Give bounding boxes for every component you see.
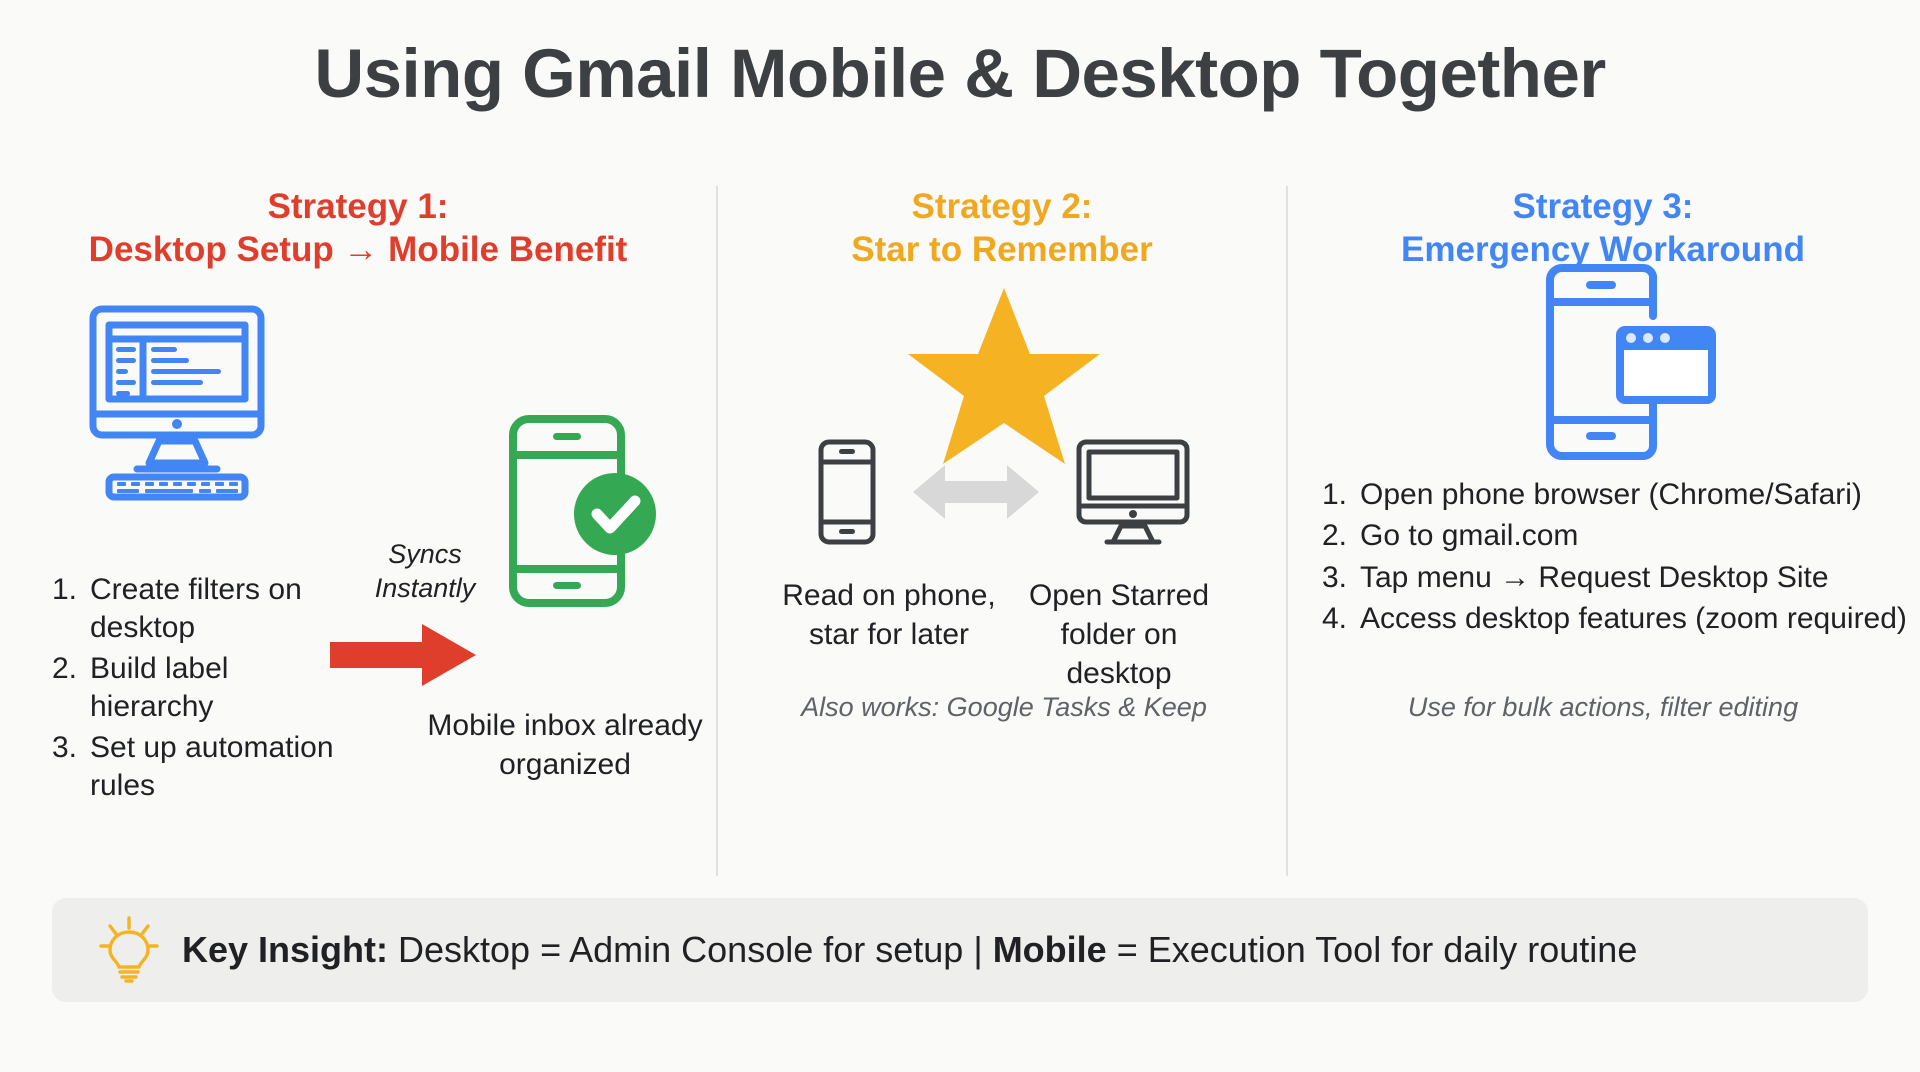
list-item: 1. Create filters on desktop (52, 571, 352, 648)
strategy-2-caption-left: Read on phone, star for later (774, 576, 1004, 693)
step-text: Tap menu → Request Desktop Site (1360, 559, 1920, 597)
strategy-2-heading-line1: Strategy 2: (718, 186, 1286, 229)
step-number: 1. (1322, 476, 1360, 514)
phone-browser-icon (1538, 264, 1724, 465)
strategy-columns: Strategy 1: Desktop Setup → Mobile Benef… (0, 186, 1920, 876)
key-insight-bold-mobile: Mobile (993, 929, 1107, 970)
infographic-slide: Using Gmail Mobile & Desktop Together St… (0, 0, 1920, 1072)
step-text: Set up automation rules (90, 729, 352, 806)
strategy-2-note: Also works: Google Tasks & Keep (718, 692, 1290, 723)
strategy-1-heading: Strategy 1: Desktop Setup → Mobile Benef… (0, 186, 716, 271)
step-number: 1. (52, 571, 90, 648)
step-number: 3. (1322, 559, 1360, 597)
strategy-2-column: Strategy 2: Star to Remember (716, 186, 1288, 876)
strategy-1-caption: Mobile inbox already organized (420, 706, 710, 784)
list-item: 1. Open phone browser (Chrome/Safari) (1322, 476, 1920, 514)
desktop-monitor-icon (1075, 438, 1191, 551)
page-title: Using Gmail Mobile & Desktop Together (0, 34, 1920, 113)
strategy-1-heading-line1: Strategy 1: (0, 186, 716, 229)
strategy-3-heading-line1: Strategy 3: (1288, 186, 1918, 229)
list-item: 3. Tap menu → Request Desktop Site (1322, 559, 1920, 597)
strategy-3-note: Use for bulk actions, filter editing (1288, 692, 1918, 723)
syncs-instantly-label: Syncs Instantly (355, 538, 495, 606)
strategy-1-heading-line2: Desktop Setup → Mobile Benefit (0, 229, 716, 272)
strategy-1-steps: 1. Create filters on desktop 2. Build la… (52, 571, 352, 807)
step-text: Create filters on desktop (90, 571, 352, 648)
strategy-3-steps: 1. Open phone browser (Chrome/Safari) 2.… (1322, 476, 1920, 642)
step-number: 2. (1322, 517, 1360, 555)
list-item: 2. Go to gmail.com (1322, 517, 1920, 555)
step-text: Access desktop features (zoom required) (1360, 600, 1920, 638)
phone-icon (817, 438, 877, 551)
list-item: 2. Build label hierarchy (52, 650, 352, 727)
strategy-2-heading: Strategy 2: Star to Remember (718, 186, 1286, 271)
step-text: Open phone browser (Chrome/Safari) (1360, 476, 1920, 514)
double-arrow-icon (913, 461, 1039, 528)
key-insight-label: Key Insight: (182, 929, 388, 970)
phone-check-icon (505, 411, 657, 616)
strategy-2-heading-line2: Star to Remember (718, 229, 1286, 272)
step-text: Go to gmail.com (1360, 517, 1920, 555)
phone-desktop-sync-row (718, 438, 1290, 551)
step-number: 2. (52, 650, 90, 727)
strategy-3-heading: Strategy 3: Emergency Workaround (1288, 186, 1918, 271)
key-insight-bar: Key Insight: Desktop = Admin Console for… (52, 898, 1868, 1002)
strategy-2-captions: Read on phone, star for later Open Starr… (718, 576, 1290, 693)
step-text: Build label hierarchy (90, 650, 352, 727)
desktop-monitor-icon (85, 301, 275, 506)
list-item: 4. Access desktop features (zoom require… (1322, 600, 1920, 638)
key-insight-part1: Desktop = Admin Console for setup | (388, 929, 993, 970)
step-number: 4. (1322, 600, 1360, 638)
list-item: 3. Set up automation rules (52, 729, 352, 806)
strategy-3-column: Strategy 3: Emergency Workaround (1288, 186, 1918, 876)
strategy-2-caption-right: Open Starred folder on desktop (1004, 576, 1234, 693)
step-number: 3. (52, 729, 90, 806)
lightbulb-icon (98, 915, 160, 988)
red-right-arrow-icon (330, 622, 478, 693)
strategy-1-column: Strategy 1: Desktop Setup → Mobile Benef… (0, 186, 716, 876)
key-insight-text: Key Insight: Desktop = Admin Console for… (182, 929, 1637, 971)
key-insight-part2: = Execution Tool for daily routine (1107, 929, 1638, 970)
